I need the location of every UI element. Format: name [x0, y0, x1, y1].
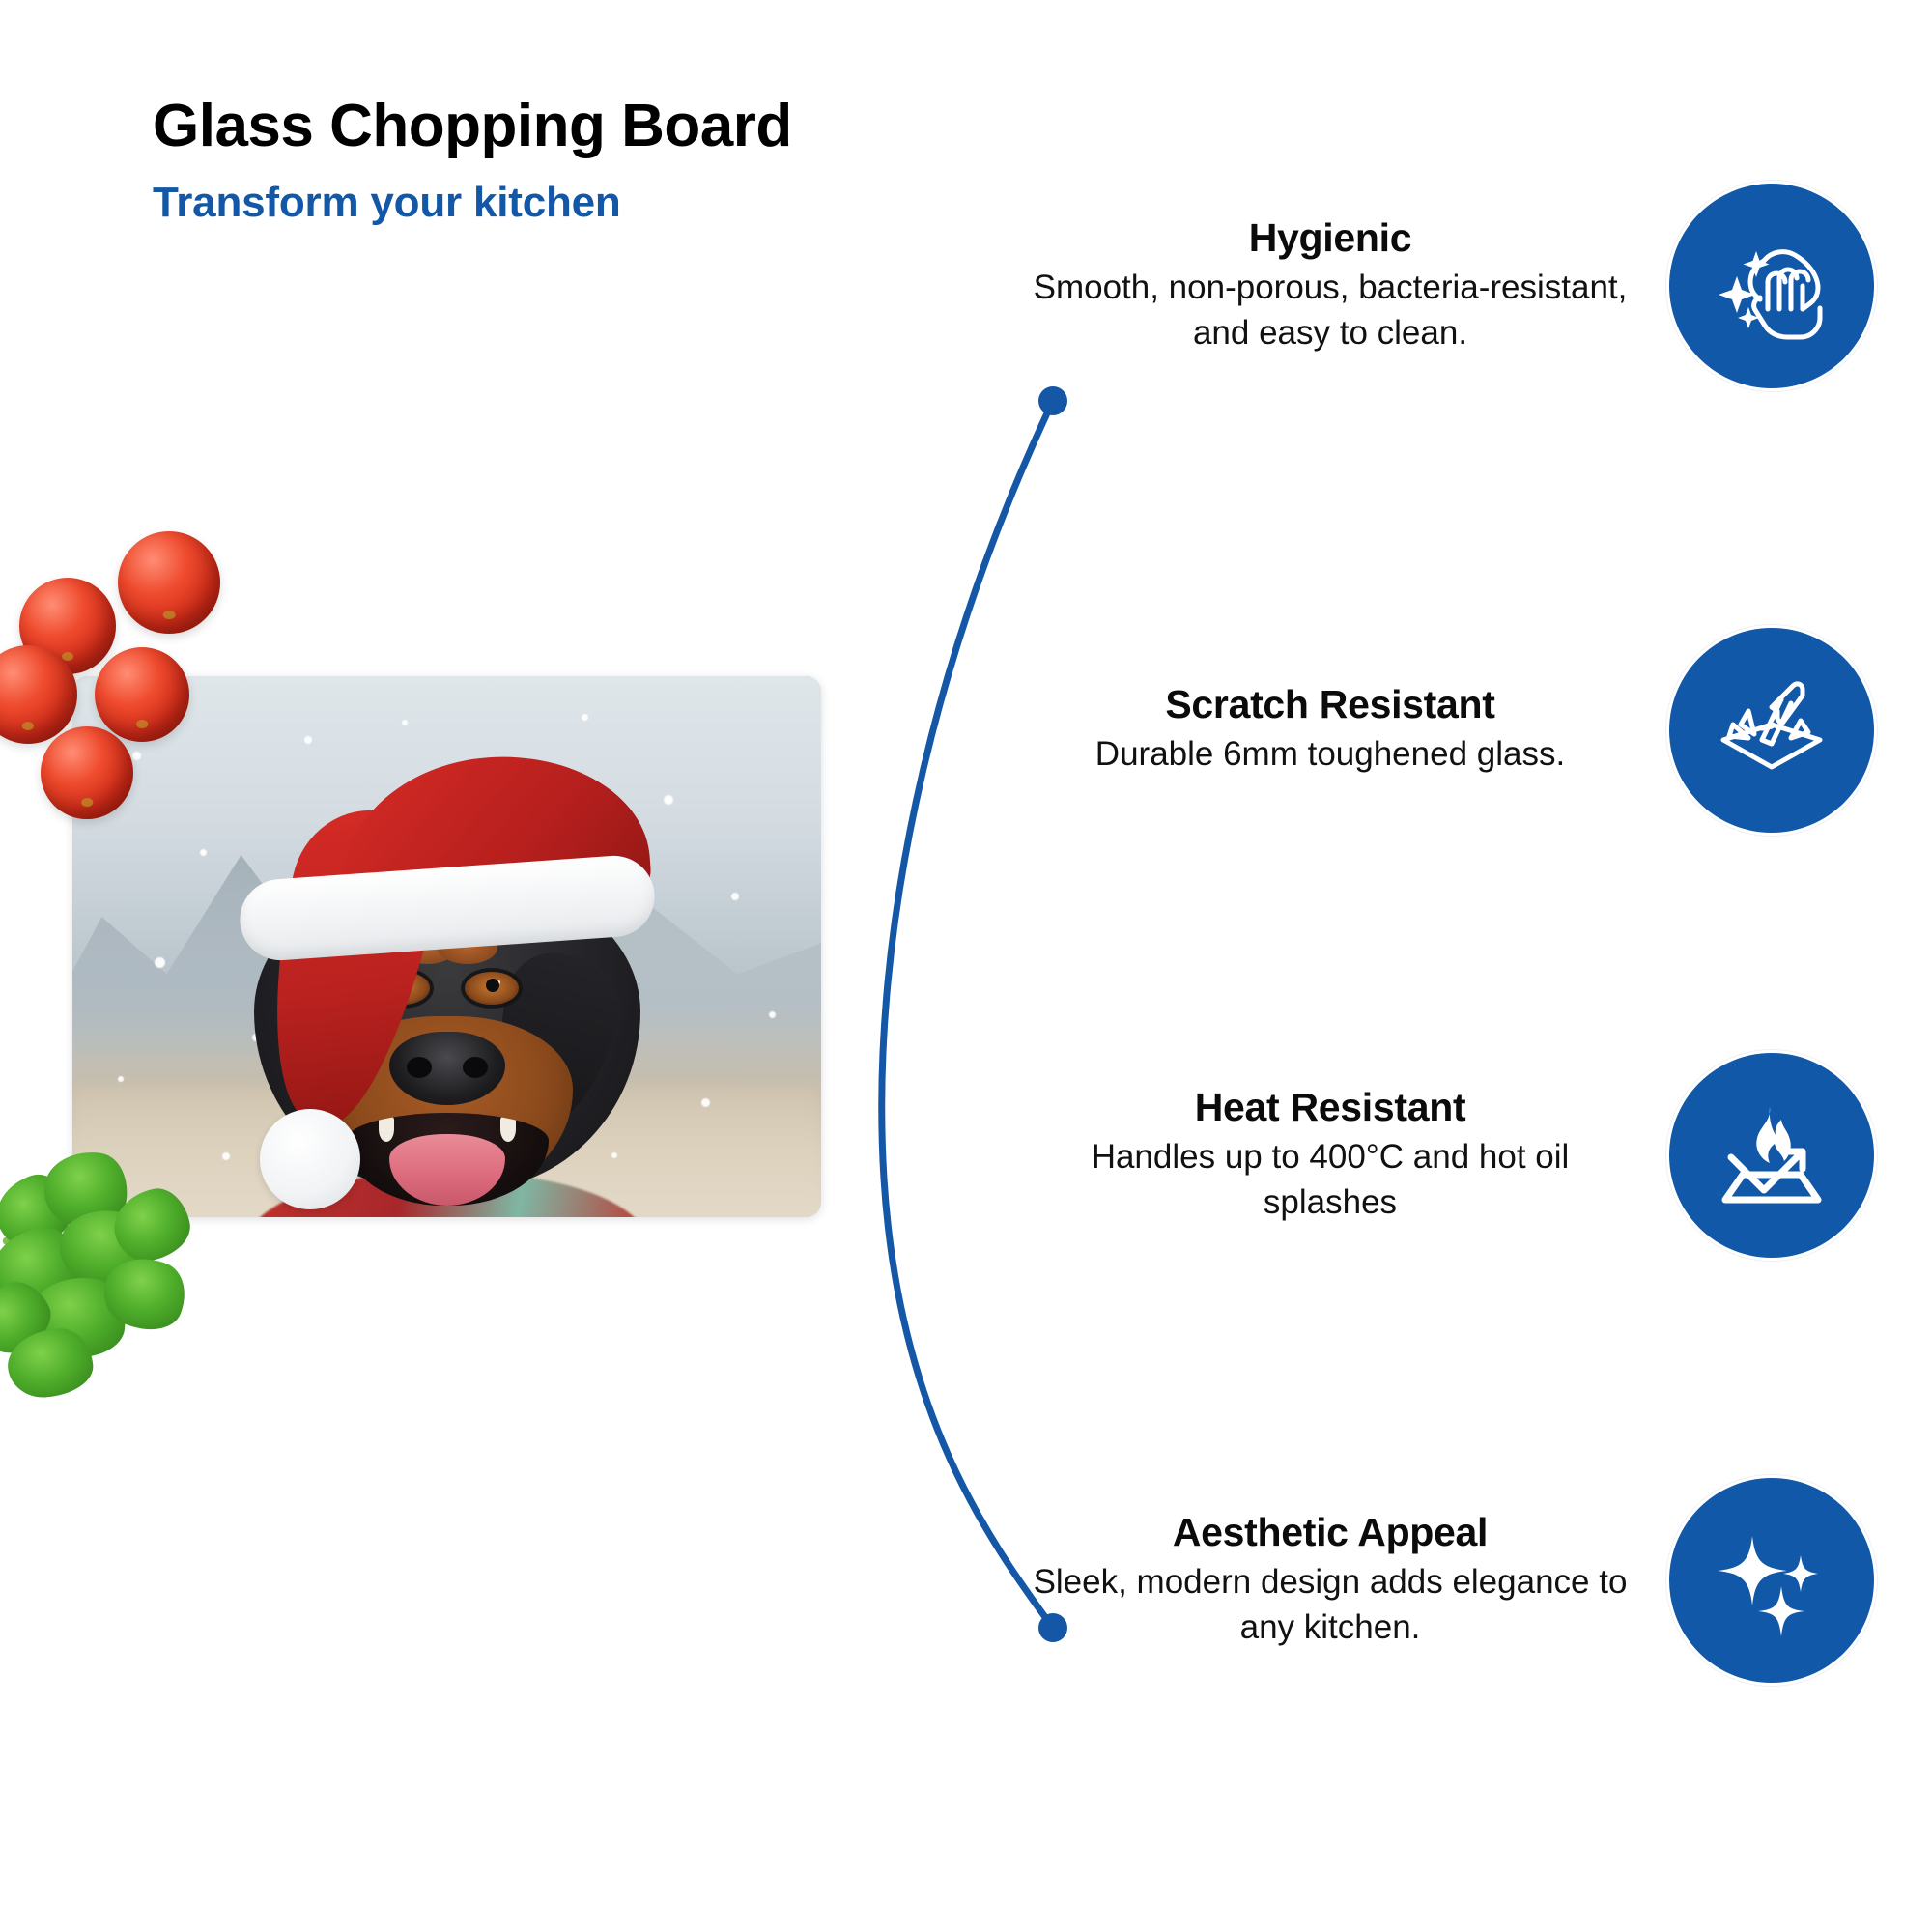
dog-tooth [500, 1117, 516, 1142]
snow-dot [731, 893, 739, 900]
cherry-tomato [95, 647, 189, 742]
feature-description: Handles up to 400°C and hot oil splashes [1024, 1135, 1636, 1224]
glass-chopping-board-product-image [72, 676, 821, 1217]
header: Glass Chopping Board Transform your kitc… [153, 97, 792, 224]
feature-description: Smooth, non-porous, bacteria-resistant, … [1024, 266, 1636, 355]
cherry-tomato [118, 531, 220, 634]
feature-description: Durable 6mm toughened glass. [1024, 732, 1636, 777]
feature-item-aesthetic-appeal[interactable]: Aesthetic Appeal Sleek, modern design ad… [1024, 1478, 1874, 1683]
feature-item-heat-resistant[interactable]: Heat Resistant Handles up to 400°C and h… [1024, 1053, 1874, 1258]
snow-dot [402, 720, 408, 725]
snow-dot [118, 1076, 124, 1082]
feature-text-block: Scratch Resistant Durable 6mm toughened … [1024, 683, 1636, 777]
dog-nostril-right [463, 1057, 488, 1078]
hand-wipe-sparkle-glyph [1710, 224, 1833, 348]
page-title: Glass Chopping Board [153, 97, 792, 156]
snow-dot [304, 736, 312, 744]
feature-description: Sleek, modern design adds elegance to an… [1024, 1560, 1636, 1649]
hand-wipe-sparkle-icon[interactable] [1669, 184, 1874, 388]
sparkles-icon[interactable] [1669, 1478, 1874, 1683]
dog-eye-right [465, 972, 519, 1005]
feature-text-block: Heat Resistant Handles up to 400°C and h… [1024, 1086, 1636, 1224]
feature-title: Heat Resistant [1024, 1086, 1636, 1129]
cherry-tomato [41, 726, 133, 819]
dog-tongue [389, 1134, 505, 1206]
connector-top-dot [1038, 386, 1067, 415]
sparkles-glyph [1710, 1519, 1833, 1642]
dog-tooth [379, 1117, 394, 1142]
dog-nostril-left [407, 1057, 432, 1078]
connector-path [882, 401, 1053, 1628]
board-artwork [72, 676, 821, 1217]
parsley-garnish [0, 1140, 270, 1381]
knife-scratch-board-icon[interactable] [1669, 628, 1874, 833]
santa-hat-pompom [260, 1109, 360, 1209]
feature-title: Scratch Resistant [1024, 683, 1636, 726]
feature-title: Hygienic [1024, 216, 1636, 260]
product-image-group [0, 599, 869, 1333]
dog-head [254, 871, 640, 1190]
knife-scratch-board-glyph [1710, 668, 1833, 792]
feature-item-hygienic[interactable]: Hygienic Smooth, non-porous, bacteria-re… [1024, 184, 1874, 388]
flame-deflect-glyph [1710, 1094, 1833, 1217]
feature-item-scratch-resistant[interactable]: Scratch Resistant Durable 6mm toughened … [1024, 628, 1874, 833]
feature-title: Aesthetic Appeal [1024, 1511, 1636, 1554]
page-subtitle: Transform your kitchen [153, 182, 792, 224]
feature-text-block: Hygienic Smooth, non-porous, bacteria-re… [1024, 216, 1636, 355]
feature-text-block: Aesthetic Appeal Sleek, modern design ad… [1024, 1511, 1636, 1649]
snow-dot [769, 1011, 776, 1018]
flame-deflect-icon[interactable] [1669, 1053, 1874, 1258]
